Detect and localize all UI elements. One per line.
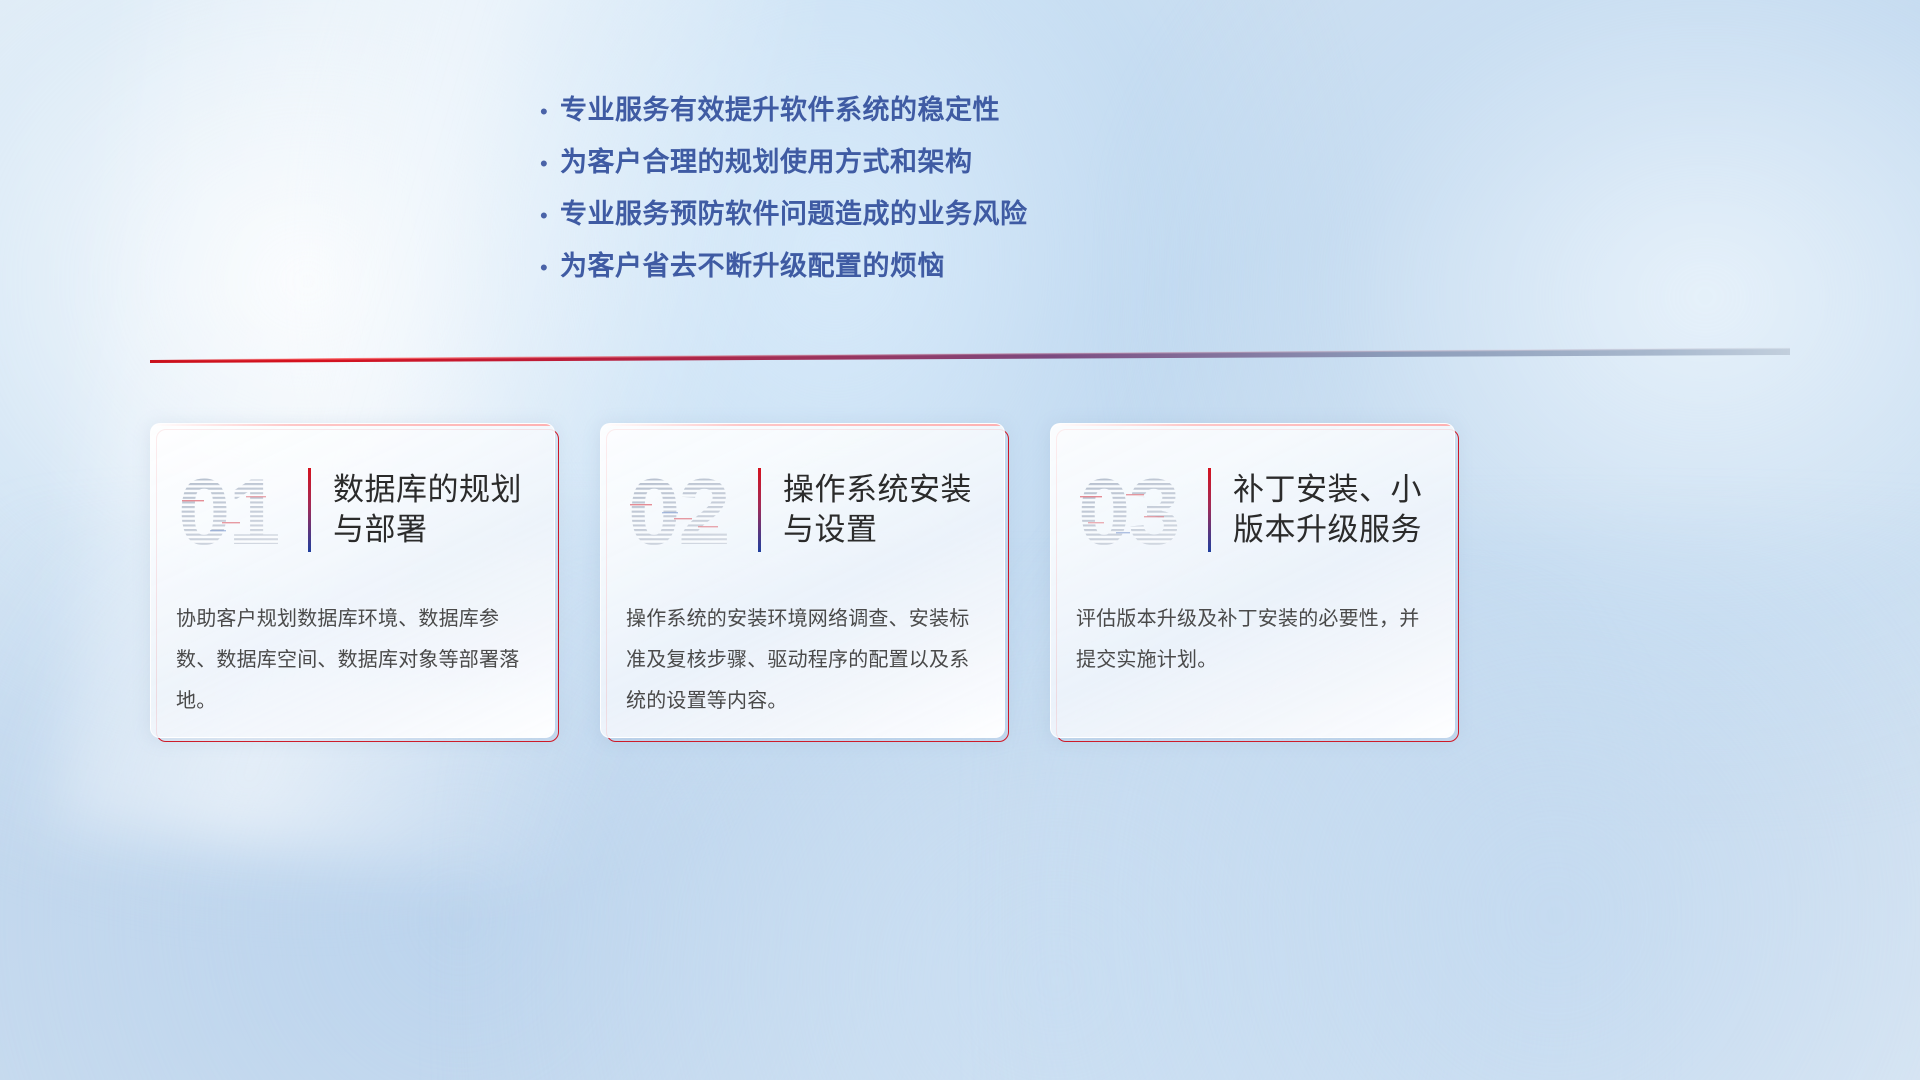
- list-item: • 为客户合理的规划使用方式和架构: [530, 140, 1170, 192]
- card-accent-bar: [308, 468, 311, 552]
- card-description: 操作系统的安装环境网络调查、安装标准及复核步骤、驱动程序的配置以及系统的设置等内…: [626, 599, 979, 723]
- bullet-marker-icon: •: [530, 153, 560, 175]
- divider-line-icon: [150, 344, 1790, 366]
- card-accent-bar: [1208, 468, 1211, 552]
- card-title: 操作系统安装与设置: [783, 470, 979, 551]
- card-description: 协助客户规划数据库环境、数据库参数、数据库空间、数据库对象等部署落地。: [176, 599, 529, 723]
- svg-text:03: 03: [1078, 460, 1179, 560]
- list-item: • 为客户省去不断升级配置的烦恼: [530, 244, 1170, 296]
- bullet-text: 专业服务有效提升软件系统的稳定性: [560, 88, 1000, 127]
- card-accent-bar: [758, 468, 761, 552]
- bullet-marker-icon: •: [530, 257, 560, 279]
- list-item: • 专业服务有效提升软件系统的稳定性: [530, 88, 1170, 140]
- card-number-watermark: 03 03: [1076, 460, 1204, 560]
- bullet-text: 为客户合理的规划使用方式和架构: [560, 140, 973, 179]
- service-card[interactable]: 03 03 补丁安装、小版本升级服务 评估版本升级及补丁安装的必要性，并提交实施…: [1050, 423, 1455, 738]
- section-divider: [150, 344, 1790, 366]
- card-title: 数据库的规划与部署: [333, 470, 529, 551]
- striped-number-icon: 01 01: [176, 460, 304, 560]
- service-card[interactable]: 01 01 数据库的规划与部署 协助客户规划数据库环境、数据库参数、数据库空间、…: [150, 423, 555, 738]
- bullet-text: 专业服务预防软件问题造成的业务风险: [560, 192, 1028, 231]
- card-title: 补丁安装、小版本升级服务: [1233, 470, 1429, 551]
- striped-number-icon: 02 02: [626, 460, 754, 560]
- service-cards: 01 01 数据库的规划与部署 协助客户规划数据库环境、数据库参数、数据库空间、…: [150, 423, 1790, 738]
- service-card[interactable]: 02 02 操作系统安装与设置 操作系统的安装环境网络调查、安装标准及复核步骤、…: [600, 423, 1005, 738]
- svg-text:02: 02: [628, 460, 729, 560]
- bullet-text: 为客户省去不断升级配置的烦恼: [560, 244, 945, 283]
- striped-number-icon: 03 03: [1076, 460, 1204, 560]
- card-number-watermark: 01 01: [176, 460, 304, 560]
- benefits-bullet-list: • 专业服务有效提升软件系统的稳定性 • 为客户合理的规划使用方式和架构 • 专…: [530, 88, 1170, 296]
- list-item: • 专业服务预防软件问题造成的业务风险: [530, 192, 1170, 244]
- bullet-marker-icon: •: [530, 101, 560, 123]
- card-description: 评估版本升级及补丁安装的必要性，并提交实施计划。: [1076, 599, 1429, 681]
- bullet-marker-icon: •: [530, 205, 560, 227]
- svg-text:01: 01: [178, 460, 279, 560]
- card-number-watermark: 02 02: [626, 460, 754, 560]
